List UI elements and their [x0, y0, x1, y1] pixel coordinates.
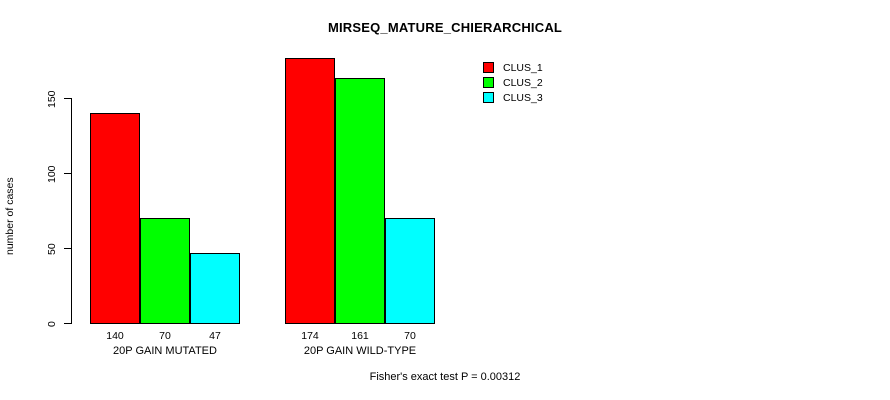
bar-group1-clus1	[90, 113, 140, 324]
bar-value-group1-clus2: 70	[140, 330, 190, 342]
legend-label-clus2: CLUS_2	[503, 77, 543, 89]
bar-value-group2-clus2: 161	[335, 330, 385, 342]
fisher-test-annotation: Fisher's exact test P = 0.00312	[0, 371, 890, 383]
bar-value-group1-clus1: 140	[90, 330, 140, 342]
bar-value-group2-clus3: 70	[385, 330, 435, 342]
bar-value-group1-clus3: 47	[190, 330, 240, 342]
group-label-2: 20P GAIN WILD-TYPE	[270, 344, 450, 358]
legend-item-clus1: CLUS_1	[483, 60, 543, 75]
y-tick-label-150: 150	[44, 84, 60, 114]
y-tick-100	[64, 173, 71, 174]
bar-chart-plot: MIRSEQ_MATURE_CHIERARCHICAL number of ca…	[0, 0, 890, 400]
legend: CLUS_1 CLUS_2 CLUS_3	[483, 60, 543, 105]
legend-item-clus2: CLUS_2	[483, 75, 543, 90]
legend-swatch-clus3	[483, 92, 494, 103]
group-label-1: 20P GAIN MUTATED	[75, 344, 255, 358]
legend-label-clus1: CLUS_1	[503, 62, 543, 74]
y-tick-label-50: 50	[44, 234, 60, 264]
chart-title: MIRSEQ_MATURE_CHIERARCHICAL	[0, 20, 890, 35]
legend-label-clus3: CLUS_3	[503, 92, 543, 104]
bar-value-group2-clus1: 174	[285, 330, 335, 342]
legend-swatch-clus1	[483, 62, 494, 73]
y-tick-label-0: 0	[44, 309, 60, 339]
bar-group2-clus3	[385, 218, 435, 324]
y-tick-150	[64, 98, 71, 99]
legend-swatch-clus2	[483, 77, 494, 88]
bar-group1-clus2	[140, 218, 190, 324]
y-tick-50	[64, 248, 71, 249]
y-tick-0	[64, 323, 71, 324]
bar-group1-clus3	[190, 253, 240, 324]
y-axis-line	[71, 98, 72, 324]
y-axis-title: number of cases	[2, 166, 18, 266]
y-tick-label-100: 100	[44, 159, 60, 189]
bar-group2-clus1	[285, 58, 335, 324]
bar-group2-clus2	[335, 78, 385, 324]
legend-item-clus3: CLUS_3	[483, 90, 543, 105]
